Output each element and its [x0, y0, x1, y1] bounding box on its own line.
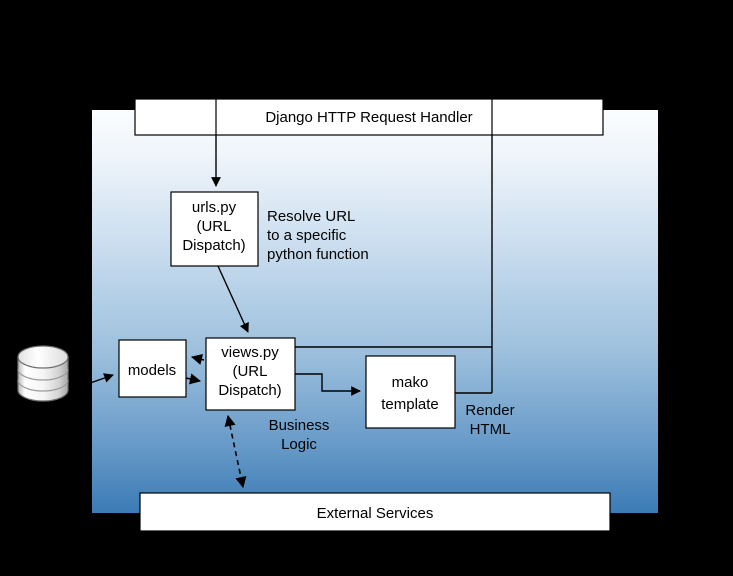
- views-py-label-line-2: (URL: [232, 363, 267, 380]
- render-html-note-line-1: Render: [465, 402, 514, 419]
- django-handler-label: Django HTTP Request Handler: [265, 109, 472, 126]
- views-py-label-line-3: Dispatch): [218, 382, 281, 399]
- mako-template-box: [366, 356, 455, 428]
- database-cylinder-top: [18, 346, 68, 368]
- models-label: models: [128, 362, 176, 379]
- node-mako-template[interactable]: mako template: [366, 356, 455, 428]
- views-py-label-line-1: views.py: [221, 344, 279, 361]
- urls-py-label-line-2: (URL: [196, 218, 231, 235]
- resolve-url-note-line-3: python function: [267, 246, 369, 263]
- urls-py-label-line-3: Dispatch): [182, 237, 245, 254]
- node-views-py[interactable]: views.py (URL Dispatch): [206, 338, 295, 410]
- mako-template-label-line-1: mako: [392, 374, 429, 391]
- database-icon[interactable]: [18, 346, 68, 401]
- business-logic-note-line-1: Business: [269, 417, 330, 434]
- urls-py-label-line-1: urls.py: [192, 199, 237, 216]
- node-external-services[interactable]: External Services: [140, 493, 610, 531]
- node-models[interactable]: models: [119, 340, 186, 397]
- render-html-note-line-2: HTML: [470, 421, 511, 438]
- business-logic-note-line-2: Logic: [281, 436, 317, 453]
- gradient-background-panel: [92, 110, 658, 513]
- resolve-url-note-line-1: Resolve URL: [267, 208, 355, 225]
- node-django-http-request-handler[interactable]: Django HTTP Request Handler: [135, 99, 603, 135]
- diagram-canvas: Django HTTP Request Handler urls.py (URL…: [0, 0, 733, 576]
- django-request-flow-diagram: Django HTTP Request Handler urls.py (URL…: [0, 0, 733, 576]
- external-services-label: External Services: [317, 505, 434, 522]
- mako-template-label-line-2: template: [381, 396, 439, 413]
- node-urls-py[interactable]: urls.py (URL Dispatch): [171, 192, 258, 266]
- resolve-url-note-line-2: to a specific: [267, 227, 347, 244]
